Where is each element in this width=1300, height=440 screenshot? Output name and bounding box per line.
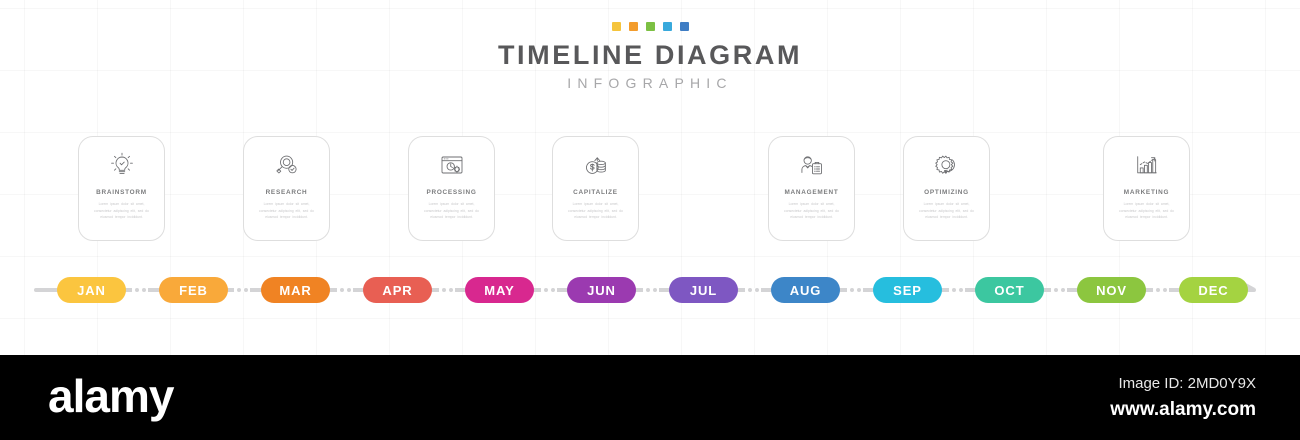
infographic-canvas: TIMELINE DIAGRAM INFOGRAPHIC BRAINSTORM … xyxy=(0,0,1300,440)
timeline-pill-label: MAY xyxy=(484,283,514,298)
step-card-label: RESEARCH xyxy=(266,189,308,196)
timeline-pill-label: JUL xyxy=(690,283,717,298)
step-card-label: MANAGEMENT xyxy=(784,189,838,196)
step-card-marketing[interactable]: MARKETING Lorem ipsum dolor sit amet, co… xyxy=(1103,136,1190,241)
step-card-desc: Lorem ipsum dolor sit amet, consectetur … xyxy=(916,201,978,221)
watermark-bar: alamy Image ID: 2MD0Y9X www.alamy.com xyxy=(0,355,1300,440)
step-card-label: BRAINSTORM xyxy=(96,189,147,196)
timeline-pill-label: NOV xyxy=(1096,283,1127,298)
timeline-pill-apr[interactable]: APR xyxy=(363,277,432,303)
step-card-processing[interactable]: PROCESSING Lorem ipsum dolor sit amet, c… xyxy=(408,136,495,241)
accent-dot-4 xyxy=(663,22,672,31)
step-card-desc: Lorem ipsum dolor sit amet, consectetur … xyxy=(421,201,483,221)
step-card-desc: Lorem ipsum dolor sit amet, consectetur … xyxy=(1116,201,1178,221)
timeline-pill-label: FEB xyxy=(179,283,208,298)
timeline-pill-label: MAR xyxy=(279,283,311,298)
step-card-desc: Lorem ipsum dolor sit amet, consectetur … xyxy=(256,201,318,221)
step-card-management[interactable]: MANAGEMENT Lorem ipsum dolor sit amet, c… xyxy=(768,136,855,241)
timeline-pill-label: DEC xyxy=(1198,283,1228,298)
magnifier-check-icon xyxy=(270,148,304,182)
image-id-label: Image ID: 2MD0Y9X xyxy=(1118,375,1256,392)
step-card-label: MARKETING xyxy=(1124,189,1169,196)
timeline-pill-label: SEP xyxy=(893,283,922,298)
step-card-brainstorm[interactable]: BRAINSTORM Lorem ipsum dolor sit amet, c… xyxy=(78,136,165,241)
timeline-pill-jul[interactable]: JUL xyxy=(669,277,738,303)
timeline-dot-gap xyxy=(337,288,353,292)
person-checklist-icon xyxy=(795,148,829,182)
header: TIMELINE DIAGRAM INFOGRAPHIC xyxy=(0,22,1300,91)
timeline-dot-gap xyxy=(847,288,863,292)
coins-money-icon xyxy=(579,148,613,182)
page-subtitle: INFOGRAPHIC xyxy=(0,75,1300,91)
alamy-logo: alamy xyxy=(48,373,173,419)
step-card-label: PROCESSING xyxy=(426,189,476,196)
timeline-dot-gap xyxy=(132,288,148,292)
timeline-dot-gap xyxy=(1051,288,1067,292)
step-card-capitalize[interactable]: CAPITALIZE Lorem ipsum dolor sit amet, c… xyxy=(552,136,639,241)
step-card-desc: Lorem ipsum dolor sit amet, consectetur … xyxy=(781,201,843,221)
step-card-research[interactable]: RESEARCH Lorem ipsum dolor sit amet, con… xyxy=(243,136,330,241)
timeline-dot-gap xyxy=(745,288,761,292)
accent-dot-3 xyxy=(646,22,655,31)
timeline: JAN FEB MAR APR MAY JUN JUL AUG SEP OCT … xyxy=(0,277,1300,303)
step-card-label: CAPITALIZE xyxy=(573,189,618,196)
timeline-pill-nov[interactable]: NOV xyxy=(1077,277,1146,303)
timeline-pill-label: JUN xyxy=(587,283,616,298)
timeline-dot-gap xyxy=(541,288,557,292)
step-card-desc: Lorem ipsum dolor sit amet, consectetur … xyxy=(91,201,153,221)
timeline-pill-sep[interactable]: SEP xyxy=(873,277,942,303)
timeline-pill-may[interactable]: MAY xyxy=(465,277,534,303)
timeline-pill-label: AUG xyxy=(790,283,822,298)
page-title: TIMELINE DIAGRAM xyxy=(0,40,1300,71)
timeline-pill-jun[interactable]: JUN xyxy=(567,277,636,303)
timeline-dot-gap xyxy=(949,288,965,292)
step-card-optimizing[interactable]: OPTIMIZING Lorem ipsum dolor sit amet, c… xyxy=(903,136,990,241)
timeline-dot-gap xyxy=(1153,288,1169,292)
browser-gear-icon xyxy=(435,148,469,182)
timeline-dot-gap xyxy=(439,288,455,292)
step-card-label: OPTIMIZING xyxy=(924,189,969,196)
timeline-pill-label: JAN xyxy=(77,283,106,298)
accent-dot-2 xyxy=(629,22,638,31)
timeline-pill-aug[interactable]: AUG xyxy=(771,277,840,303)
step-cards: BRAINSTORM Lorem ipsum dolor sit amet, c… xyxy=(0,136,1300,244)
timeline-pill-feb[interactable]: FEB xyxy=(159,277,228,303)
lightbulb-icon xyxy=(105,148,139,182)
alamy-url: www.alamy.com xyxy=(1110,399,1256,421)
timeline-pill-label: OCT xyxy=(994,283,1024,298)
timeline-dot-gap xyxy=(643,288,659,292)
timeline-pill-jan[interactable]: JAN xyxy=(57,277,126,303)
bar-chart-growth-icon xyxy=(1130,148,1164,182)
gear-arrow-icon xyxy=(930,148,964,182)
timeline-pill-oct[interactable]: OCT xyxy=(975,277,1044,303)
accent-dots xyxy=(0,22,1300,31)
timeline-pill-mar[interactable]: MAR xyxy=(261,277,330,303)
step-card-desc: Lorem ipsum dolor sit amet, consectetur … xyxy=(565,201,627,221)
timeline-pill-label: APR xyxy=(382,283,412,298)
timeline-pill-dec[interactable]: DEC xyxy=(1179,277,1248,303)
accent-dot-5 xyxy=(680,22,689,31)
timeline-dot-gap xyxy=(234,288,250,292)
accent-dot-1 xyxy=(612,22,621,31)
